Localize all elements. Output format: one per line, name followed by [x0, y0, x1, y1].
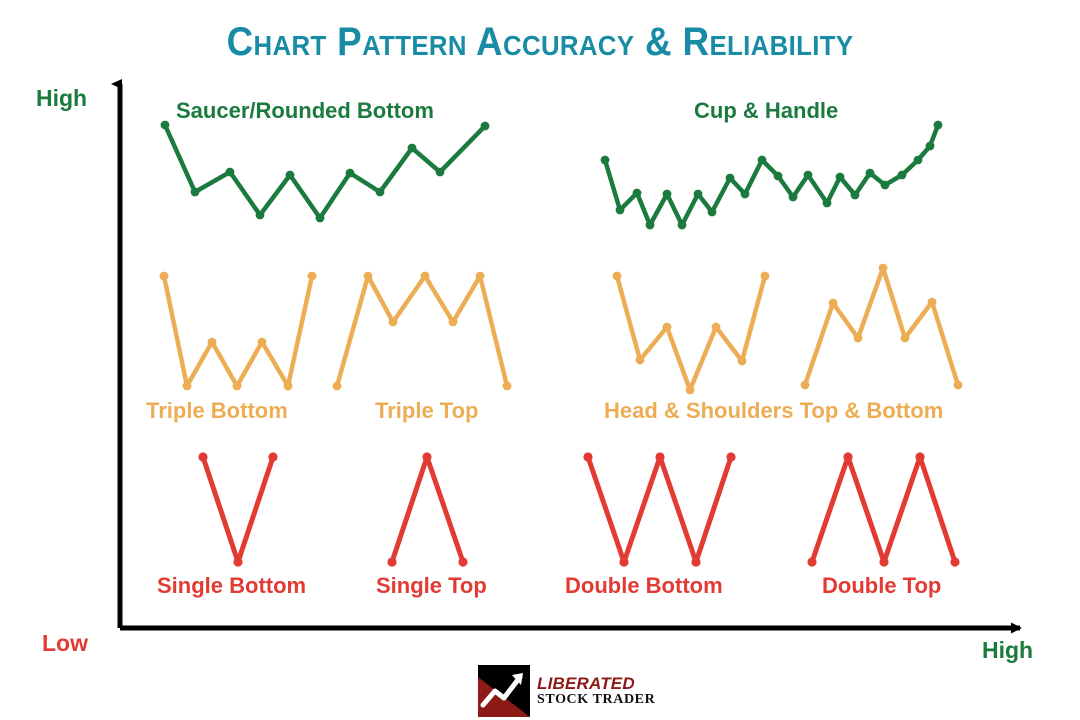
data-point-marker — [950, 557, 959, 566]
data-point-marker — [601, 156, 610, 165]
data-point-marker — [583, 452, 592, 461]
data-point-marker — [198, 452, 207, 461]
pattern-label: Saucer/Rounded Bottom — [176, 98, 434, 124]
data-point-marker — [879, 557, 888, 566]
pattern-line — [164, 276, 312, 386]
pattern-series — [601, 121, 943, 230]
data-point-marker — [233, 557, 242, 566]
data-point-marker — [481, 122, 490, 131]
pattern-label: Single Top — [376, 573, 487, 599]
data-point-marker — [636, 356, 645, 365]
pattern-line — [203, 457, 273, 562]
data-point-marker — [914, 156, 923, 165]
data-point-marker — [655, 452, 664, 461]
pattern-series — [801, 264, 963, 390]
data-point-marker — [286, 171, 295, 180]
data-point-marker — [364, 272, 373, 281]
data-point-marker — [258, 338, 267, 347]
data-point-marker — [741, 190, 750, 199]
data-point-marker — [726, 452, 735, 461]
data-point-marker — [183, 382, 192, 391]
data-point-marker — [807, 557, 816, 566]
data-point-marker — [333, 382, 342, 391]
data-point-marker — [421, 272, 430, 281]
data-point-marker — [226, 168, 235, 177]
pattern-series — [583, 452, 735, 566]
data-point-marker — [436, 168, 445, 177]
data-point-marker — [801, 381, 810, 390]
logo-subtitle-text: STOCK TRADER — [537, 693, 655, 708]
data-point-marker — [663, 323, 672, 332]
data-point-marker — [161, 121, 170, 130]
data-point-marker — [851, 191, 860, 200]
data-point-marker — [408, 144, 417, 153]
data-point-marker — [934, 121, 943, 130]
data-point-marker — [233, 382, 242, 391]
pattern-label: Triple Top — [375, 398, 478, 424]
data-point-marker — [191, 188, 200, 197]
pattern-line — [337, 276, 507, 386]
data-point-marker — [389, 318, 398, 327]
data-point-marker — [268, 452, 277, 461]
data-point-marker — [422, 452, 431, 461]
pattern-label: Cup & Handle — [694, 98, 838, 124]
chart-infographic: Chart Pattern Accuracy & Reliability Hig… — [0, 0, 1080, 720]
data-point-marker — [823, 199, 832, 208]
data-point-marker — [854, 334, 863, 343]
pattern-series — [161, 121, 490, 223]
pattern-label: Triple Bottom — [146, 398, 288, 424]
data-point-marker — [208, 338, 217, 347]
data-point-marker — [829, 299, 838, 308]
data-point-marker — [804, 171, 813, 180]
liberated-stock-trader-logo: LIBERATED STOCK TRADER — [478, 665, 655, 717]
data-point-marker — [678, 221, 687, 230]
data-point-marker — [376, 188, 385, 197]
logo-arrow-icon — [478, 665, 530, 717]
pattern-label: Single Bottom — [157, 573, 306, 599]
data-point-marker — [843, 452, 852, 461]
pattern-line — [588, 457, 731, 562]
data-point-marker — [160, 272, 169, 281]
data-point-marker — [663, 190, 672, 199]
pattern-line — [617, 276, 765, 390]
data-point-marker — [881, 181, 890, 190]
pattern-line — [805, 268, 958, 385]
data-point-marker — [616, 206, 625, 215]
data-point-marker — [694, 190, 703, 199]
data-point-marker — [738, 357, 747, 366]
data-point-marker — [712, 323, 721, 332]
data-point-marker — [449, 318, 458, 327]
data-point-marker — [458, 557, 467, 566]
data-point-marker — [758, 156, 767, 165]
data-point-marker — [879, 264, 888, 273]
data-point-marker — [774, 172, 783, 181]
pattern-series — [333, 272, 512, 391]
data-point-marker — [915, 452, 924, 461]
pattern-label: Double Top — [822, 573, 941, 599]
data-point-marker — [284, 382, 293, 391]
pattern-line — [605, 125, 938, 225]
data-point-marker — [346, 169, 355, 178]
pattern-label: Double Bottom — [565, 573, 723, 599]
data-point-marker — [691, 557, 700, 566]
data-point-marker — [954, 381, 963, 390]
pattern-series — [198, 452, 277, 566]
data-point-marker — [387, 557, 396, 566]
data-point-marker — [619, 557, 628, 566]
data-point-marker — [928, 298, 937, 307]
data-point-marker — [901, 334, 910, 343]
data-point-marker — [256, 211, 265, 220]
pattern-series-layer — [160, 121, 963, 567]
data-point-marker — [898, 171, 907, 180]
data-point-marker — [503, 382, 512, 391]
data-point-marker — [926, 142, 935, 151]
data-point-marker — [686, 386, 695, 395]
data-point-marker — [708, 208, 717, 217]
pattern-line — [812, 457, 955, 562]
pattern-label: Head & Shoulders Top & Bottom — [604, 398, 943, 424]
pattern-series — [387, 452, 467, 566]
logo-brand-text: LIBERATED — [537, 675, 655, 693]
pattern-line — [392, 457, 463, 562]
pattern-series — [807, 452, 959, 566]
data-point-marker — [646, 221, 655, 230]
data-point-marker — [316, 214, 325, 223]
pattern-series — [160, 272, 317, 391]
pattern-series — [613, 272, 770, 395]
chart-plot-area — [0, 0, 1080, 720]
data-point-marker — [789, 193, 798, 202]
data-point-marker — [866, 169, 875, 178]
data-point-marker — [476, 272, 485, 281]
data-point-marker — [761, 272, 770, 281]
data-point-marker — [836, 173, 845, 182]
data-point-marker — [633, 189, 642, 198]
data-point-marker — [308, 272, 317, 281]
data-point-marker — [613, 272, 622, 281]
data-point-marker — [726, 174, 735, 183]
